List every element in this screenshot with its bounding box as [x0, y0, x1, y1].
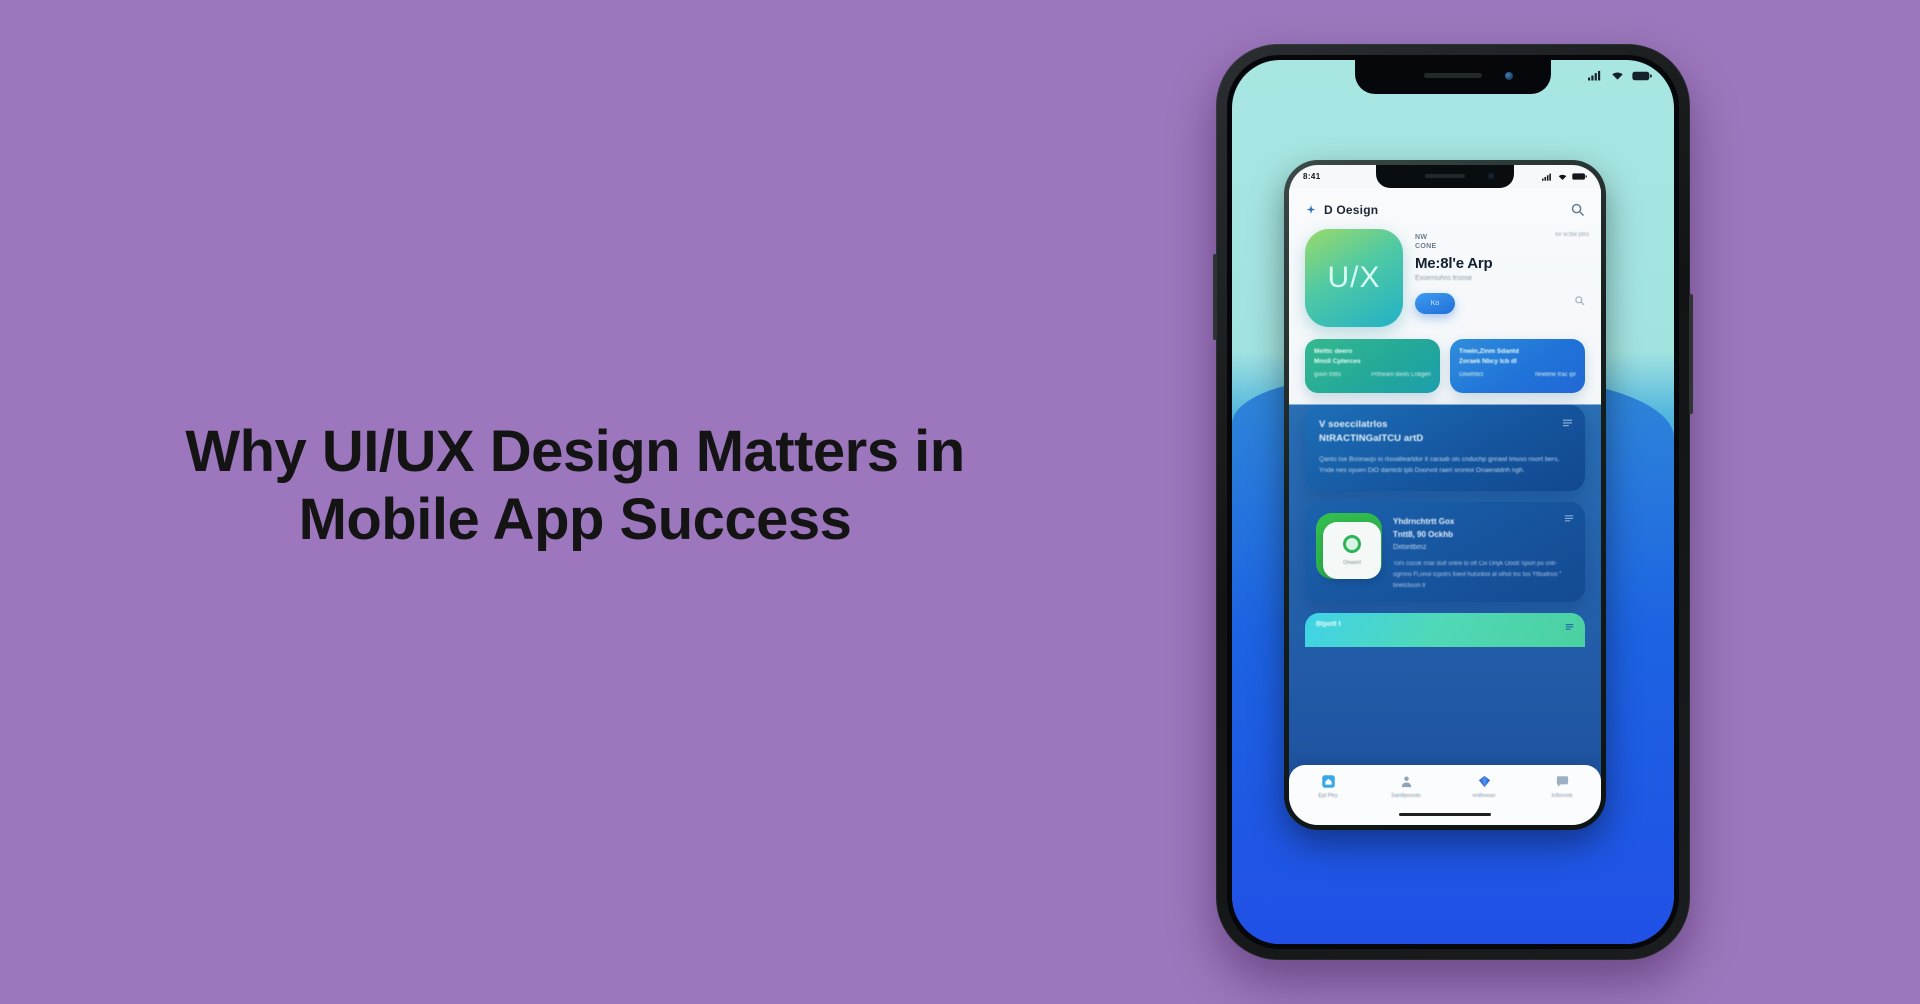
- headline-line-2: Mobile App Success: [0, 486, 1150, 554]
- hero-section: U/X NW CONE Me:8l'e Arp Exoemuhro troose…: [1289, 223, 1601, 327]
- status-time: 8:41: [1303, 172, 1321, 181]
- front-camera-icon: [1505, 72, 1513, 80]
- media-thumbnail-sheet: Onwort: [1323, 522, 1381, 579]
- media-thumbnail-caption: Onwort: [1343, 560, 1361, 566]
- media-card-body: Tors cocok cnar dutf ontre to oft Cix On…: [1393, 559, 1574, 591]
- tab-home[interactable]: Epl Ptry: [1299, 774, 1357, 799]
- signal-bars-icon: [1542, 173, 1553, 181]
- media-card[interactable]: Onwort Yhdrnchtrtt Gox Tntt8, 90 Ockhb D…: [1305, 502, 1585, 602]
- spark-icon: [1305, 204, 1317, 216]
- hero-subtitle: Exoemuhro troose: [1415, 275, 1585, 282]
- diamond-icon: [1477, 774, 1492, 789]
- signal-bars-icon: [1588, 70, 1603, 81]
- media-card-title-line-2: Tntt8, 90 Ockhb: [1393, 529, 1574, 541]
- app-brand-label: D Oesign: [1324, 203, 1378, 217]
- battery-icon: [1572, 173, 1587, 180]
- tab-rewards-label: enthnoso: [1473, 793, 1496, 799]
- earpiece-speaker-icon: [1424, 73, 1482, 78]
- media-card-subtitle: Dxtontbmz: [1393, 544, 1574, 551]
- feature-card-title-line-2: NtRACTINGaITCU artD: [1319, 432, 1571, 446]
- home-indicator[interactable]: [1399, 813, 1491, 817]
- stat-card-foot-left: goon trbto: [1314, 372, 1341, 378]
- hero-cta-button[interactable]: Ko: [1415, 293, 1455, 314]
- peek-card[interactable]: Btpott t: [1305, 613, 1585, 647]
- outer-notch: [1355, 60, 1551, 94]
- search-small-icon[interactable]: [1574, 295, 1585, 306]
- home-icon: [1321, 774, 1336, 789]
- tab-messages-label: Icfiorvob: [1552, 793, 1573, 799]
- hero-side-meta: kir w:bw ptro: [1555, 231, 1589, 240]
- wifi-icon: [1610, 70, 1625, 81]
- outer-device-bezel: 8:41: [1227, 55, 1679, 949]
- app-header: D Oesign: [1289, 188, 1601, 223]
- outer-device-screen: 8:41: [1232, 60, 1674, 944]
- tab-rewards[interactable]: enthnoso: [1455, 774, 1513, 799]
- tab-profile-label: Santtpoonto: [1391, 793, 1421, 799]
- feature-card[interactable]: V soeccilatrlos NtRACTINGaITCU artD Qant…: [1305, 405, 1585, 491]
- app-content: D Oesign U/X N: [1289, 188, 1601, 825]
- stat-card-line-2: Mnoll Cpterces: [1314, 357, 1431, 367]
- stat-card-line-2: Zoraek Nbcy Icb dl: [1459, 357, 1576, 367]
- tab-profile[interactable]: Santtpoonto: [1377, 774, 1435, 799]
- stat-card-foot-left: Gliwthtict: [1459, 372, 1483, 378]
- inner-front-camera-icon: [1488, 173, 1494, 179]
- stat-card-foot-right: Nnebne trac ipr: [1535, 372, 1576, 378]
- chat-icon: [1555, 774, 1570, 789]
- hero-text-block: NW CONE Me:8l'e Arp Exoemuhro troose Ko …: [1415, 229, 1585, 314]
- inner-device-screen: 8:41: [1289, 165, 1601, 825]
- feature-card-body: Qanto tse Boonaojs io rtsoatleartdor it …: [1319, 454, 1571, 477]
- phone-mockup: 8:41: [1216, 44, 1690, 960]
- inner-earpiece-speaker-icon: [1425, 174, 1465, 178]
- outer-device-frame: 8:41: [1216, 44, 1690, 960]
- peek-card-title: Btpott t: [1316, 621, 1574, 628]
- sliders-icon[interactable]: [1562, 417, 1573, 428]
- person-icon: [1399, 774, 1414, 789]
- inner-notch: [1376, 165, 1514, 188]
- hero-title: Me:8l'e Arp: [1415, 255, 1585, 272]
- ux-tile[interactable]: U/X: [1305, 229, 1403, 327]
- battery-icon: [1632, 71, 1652, 81]
- media-card-text: Yhdrnchtrtt Gox Tntt8, 90 Ockhb Dxtontbm…: [1393, 513, 1574, 591]
- app-brand: D Oesign: [1305, 203, 1378, 217]
- headline-line-1: Why UI/UX Design Matters in: [0, 418, 1150, 486]
- stat-card-line-1: Tnwin,Zinm Sdantd: [1459, 347, 1576, 357]
- feature-card-title-line-1: V soeccilatrlos: [1319, 418, 1571, 432]
- stat-card-line-1: Melttc deero: [1314, 347, 1431, 357]
- sliders-icon[interactable]: [1565, 622, 1574, 631]
- media-card-title-line-1: Yhdrnchtrtt Gox: [1393, 516, 1574, 528]
- sliders-icon[interactable]: [1564, 513, 1574, 523]
- tab-home-label: Epl Ptry: [1318, 793, 1337, 799]
- record-ring-icon: [1343, 535, 1361, 553]
- wifi-icon: [1557, 173, 1568, 181]
- tab-messages[interactable]: Icfiorvob: [1533, 774, 1591, 799]
- page-title: Why UI/UX Design Matters in Mobile App S…: [0, 418, 1150, 554]
- stat-card[interactable]: Tnwin,Zinm Sdantd Zoraek Nbcy Icb dl Gli…: [1450, 339, 1585, 393]
- outer-status-bar: [1588, 70, 1652, 81]
- media-thumbnail[interactable]: Onwort: [1316, 513, 1382, 579]
- search-icon[interactable]: [1570, 202, 1585, 217]
- inner-device-frame: 8:41: [1284, 160, 1606, 830]
- stat-card[interactable]: Melttc deero Mnoll Cpterces goon trbto P…: [1305, 339, 1440, 393]
- bottom-tab-bar: Epl Ptry Santtpoonto: [1289, 765, 1601, 825]
- stat-card-foot-right: Prtheam Beds Lrdigen: [1371, 372, 1431, 378]
- stat-card-row: Melttc deero Mnoll Cpterces goon trbto P…: [1289, 327, 1601, 393]
- hero-kicker-line-2: CONE: [1415, 242, 1585, 251]
